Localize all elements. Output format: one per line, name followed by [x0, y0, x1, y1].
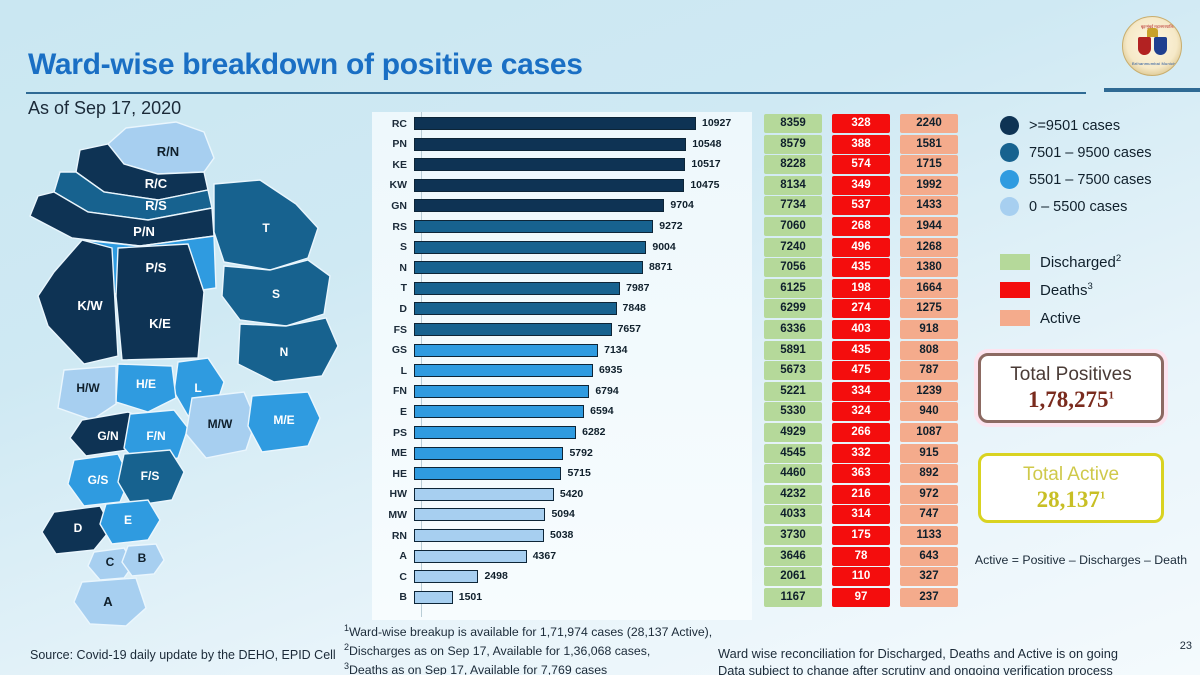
bar-track: 6282 — [414, 425, 752, 440]
cell-deaths: 97 — [832, 588, 890, 607]
bar-value-label: 6794 — [595, 384, 618, 399]
bar-category-label: FN — [372, 385, 414, 397]
footnote-1-text: Ward-wise breakup is available for 1,71,… — [349, 625, 712, 639]
bar-category-label: RC — [372, 118, 414, 130]
ward-map-svg: R/NR/CR/SP/NP/SK/WK/ETSNLH/EH/WG/NF/NM/W… — [8, 120, 358, 630]
bar-value-label: 7657 — [618, 322, 641, 337]
bar-fill[interactable] — [414, 508, 545, 521]
map-ward-mw[interactable] — [186, 392, 256, 458]
cell-deaths: 574 — [832, 155, 890, 174]
cell-discharged: 5330 — [764, 402, 822, 421]
bar-category-label: T — [372, 282, 414, 294]
bar-category-label: GN — [372, 200, 414, 212]
cell-discharged: 1167 — [764, 588, 822, 607]
bar-row: RC10927 — [372, 116, 752, 131]
cell-deaths: 216 — [832, 485, 890, 504]
bar-row: GS7134 — [372, 343, 752, 358]
cell-discharged: 4232 — [764, 485, 822, 504]
legend-status-label: Active — [1040, 310, 1081, 327]
cell-active: 1664 — [900, 279, 958, 298]
cell-active: 1380 — [900, 258, 958, 277]
legend-status-row: Discharged2 — [1000, 248, 1200, 276]
bar-category-label: MW — [372, 509, 414, 521]
bar-category-label: S — [372, 241, 414, 253]
footnote-2-text: Discharges as on Sep 17, Available for 1… — [349, 644, 650, 658]
cell-discharged: 4929 — [764, 423, 822, 442]
bar-row: RS9272 — [372, 219, 752, 234]
cell-discharged: 4545 — [764, 444, 822, 463]
bar-fill[interactable] — [414, 241, 646, 254]
bar-row: KE10517 — [372, 157, 752, 172]
bar-fill[interactable] — [414, 405, 584, 418]
bar-category-label: PS — [372, 427, 414, 439]
total-positives-card: Total Positives 1,78,2751 — [978, 353, 1164, 423]
bar-value-label: 7848 — [623, 301, 646, 316]
bar-category-label: FS — [372, 324, 414, 336]
legend-status-label: Discharged2 — [1040, 253, 1121, 271]
active-formula: Active = Positive – Discharges – Death — [962, 553, 1200, 567]
cell-discharged: 6299 — [764, 299, 822, 318]
total-active-value: 28,1371 — [1037, 487, 1106, 513]
cell-discharged: 3730 — [764, 526, 822, 545]
bar-track: 1501 — [414, 590, 752, 605]
bar-fill[interactable] — [414, 138, 686, 151]
cell-deaths: 110 — [832, 567, 890, 586]
cell-discharged: 7056 — [764, 258, 822, 277]
bar-track: 5038 — [414, 528, 752, 543]
bar-category-label: HE — [372, 468, 414, 480]
cell-active: 918 — [900, 320, 958, 339]
legend-swatch-icon — [1000, 310, 1030, 326]
cell-discharged: 6336 — [764, 320, 822, 339]
bar-fill[interactable] — [414, 199, 664, 212]
legend-case-label: 0 – 5500 cases — [1029, 199, 1127, 215]
bar-track: 5792 — [414, 446, 752, 461]
bar-row: A4367 — [372, 549, 752, 564]
bar-row: E6594 — [372, 404, 752, 419]
bar-row: B1501 — [372, 590, 752, 605]
footnote-3-text: Deaths as on Sep 17, Available for 7,769… — [349, 663, 607, 675]
bar-fill[interactable] — [414, 426, 576, 439]
bar-category-label: ME — [372, 447, 414, 459]
cell-deaths: 363 — [832, 464, 890, 483]
cell-deaths: 349 — [832, 176, 890, 195]
cell-deaths: 332 — [832, 444, 890, 463]
map-ward-t[interactable] — [214, 180, 318, 270]
legend-dot-icon — [1000, 170, 1019, 189]
bar-fill[interactable] — [414, 261, 643, 274]
bar-fill[interactable] — [414, 570, 478, 583]
cell-discharged: 8359 — [764, 114, 822, 133]
bar-value-label: 7134 — [604, 343, 627, 358]
cell-active: 327 — [900, 567, 958, 586]
cell-discharged: 7060 — [764, 217, 822, 236]
bar-track: 9004 — [414, 240, 752, 255]
total-positives-number: 1,78,275 — [1028, 387, 1109, 412]
legend-case-label: 5501 – 7500 cases — [1029, 172, 1152, 188]
cell-active: 892 — [900, 464, 958, 483]
bar-value-label: 2498 — [484, 569, 507, 584]
legend-case-row: 7501 – 9500 cases — [1000, 139, 1200, 166]
logo-shield-left-icon — [1138, 37, 1151, 55]
bar-row: HE5715 — [372, 466, 752, 481]
map-ward-s[interactable] — [222, 260, 330, 326]
cell-discharged: 4033 — [764, 505, 822, 524]
total-active-number: 28,137 — [1037, 487, 1100, 512]
bar-value-label: 9704 — [670, 198, 693, 213]
footnote-2: 2Discharges as on Sep 17, Available for … — [344, 641, 744, 660]
cell-deaths: 266 — [832, 423, 890, 442]
right-note-line1: Ward wise reconciliation for Discharged,… — [718, 645, 1198, 662]
cell-deaths: 435 — [832, 341, 890, 360]
bar-value-label: 5094 — [551, 507, 574, 522]
legend-swatch-icon — [1000, 282, 1030, 298]
bar-value-label: 10475 — [690, 178, 719, 193]
bar-row: KW10475 — [372, 178, 752, 193]
bar-value-label: 10927 — [702, 116, 731, 131]
bar-row: C2498 — [372, 569, 752, 584]
right-notes: Ward wise reconciliation for Discharged,… — [718, 645, 1198, 675]
cell-deaths: 198 — [832, 279, 890, 298]
cell-deaths: 388 — [832, 135, 890, 154]
bar-value-label: 7987 — [626, 281, 649, 296]
total-positives-sup: 1 — [1109, 389, 1115, 401]
bar-value-label: 10517 — [691, 157, 720, 172]
bar-track: 7987 — [414, 281, 752, 296]
bar-category-label: N — [372, 262, 414, 274]
logo-ring: बृहन्मुंबई महानगरपालिका Brihanmumbai Mun… — [1122, 16, 1182, 76]
bar-track: 10927 — [414, 116, 752, 131]
cell-discharged: 6125 — [764, 279, 822, 298]
cell-active: 1133 — [900, 526, 958, 545]
bar-track: 9704 — [414, 198, 752, 213]
map-ward-b[interactable] — [122, 544, 164, 576]
bar-fill[interactable] — [414, 364, 593, 377]
bar-fill[interactable] — [414, 179, 684, 192]
bar-value-label: 9272 — [659, 219, 682, 234]
footnote-3: 3Deaths as on Sep 17, Available for 7,76… — [344, 660, 744, 675]
bar-row: D7848 — [372, 301, 752, 316]
bar-category-label: RN — [372, 530, 414, 542]
legend-swatch-icon — [1000, 254, 1030, 270]
bar-value-label: 4367 — [533, 549, 556, 564]
bar-category-label: L — [372, 365, 414, 377]
municipal-corporation-logo: बृहन्मुंबई महानगरपालिका Brihanmumbai Mun… — [1116, 14, 1188, 82]
bar-fill[interactable] — [414, 529, 544, 542]
page-title: Ward-wise breakdown of positive cases — [28, 48, 583, 82]
cell-deaths: 175 — [832, 526, 890, 545]
cell-active: 237 — [900, 588, 958, 607]
cell-active: 915 — [900, 444, 958, 463]
bar-row: PS6282 — [372, 425, 752, 440]
bar-track: 5420 — [414, 487, 752, 502]
bar-value-label: 10548 — [692, 137, 721, 152]
bar-track: 5094 — [414, 507, 752, 522]
legend-status: Discharged2Deaths3Active — [1000, 248, 1200, 332]
bar-value-label: 6935 — [599, 363, 622, 378]
cell-active: 1581 — [900, 135, 958, 154]
bar-row: MW5094 — [372, 507, 752, 522]
bar-fill[interactable] — [414, 117, 696, 130]
bar-fill[interactable] — [414, 220, 653, 233]
cell-active: 1275 — [900, 299, 958, 318]
bar-track: 10475 — [414, 178, 752, 193]
cell-discharged: 3646 — [764, 547, 822, 566]
bar-category-label: D — [372, 303, 414, 315]
bar-track: 6794 — [414, 384, 752, 399]
cell-active: 972 — [900, 485, 958, 504]
bar-value-label: 6594 — [590, 404, 613, 419]
cell-deaths: 274 — [832, 299, 890, 318]
right-note-line2: Data subject to change after scrutiny an… — [718, 662, 1198, 675]
bar-chart-plot: RC10927PN10548KE10517KW10475GN9704RS9272… — [372, 112, 752, 620]
bar-row: FS7657 — [372, 322, 752, 337]
chart-panel: RC10927PN10548KE10517KW10475GN9704RS9272… — [372, 112, 962, 620]
bar-track: 2498 — [414, 569, 752, 584]
header-accent-bar — [1104, 88, 1200, 92]
bar-fill[interactable] — [414, 467, 561, 480]
bar-track: 10517 — [414, 157, 752, 172]
cell-deaths: 324 — [832, 402, 890, 421]
bar-category-label: KE — [372, 159, 414, 171]
bar-category-label: E — [372, 406, 414, 418]
bar-track: 7848 — [414, 301, 752, 316]
legend-dot-icon — [1000, 197, 1019, 216]
cell-discharged: 7240 — [764, 238, 822, 257]
bar-category-label: C — [372, 571, 414, 583]
legend-case-row: 0 – 5500 cases — [1000, 193, 1200, 220]
bar-track: 9272 — [414, 219, 752, 234]
legend-case-row: 5501 – 7500 cases — [1000, 166, 1200, 193]
source-note: Source: Covid-19 daily update by the DEH… — [30, 648, 336, 662]
bar-value-label: 9004 — [652, 240, 675, 255]
title-divider — [26, 92, 1086, 94]
bar-row: RN5038 — [372, 528, 752, 543]
logo-crest-icon — [1147, 28, 1158, 37]
bar-track: 10548 — [414, 137, 752, 152]
total-active-card: Total Active 28,1371 — [978, 453, 1164, 523]
bar-fill[interactable] — [414, 591, 453, 604]
cell-active: 1944 — [900, 217, 958, 236]
bar-fill[interactable] — [414, 158, 685, 171]
bar-category-label: KW — [372, 179, 414, 191]
total-active-sup: 1 — [1100, 489, 1106, 501]
subtitle-date: As of Sep 17, 2020 — [28, 98, 181, 119]
bar-category-label: HW — [372, 488, 414, 500]
cell-discharged: 8134 — [764, 176, 822, 195]
map-ward-me[interactable] — [248, 392, 320, 452]
bar-value-label: 6282 — [582, 425, 605, 440]
cell-deaths: 403 — [832, 320, 890, 339]
map-ward-e[interactable] — [100, 500, 160, 544]
cell-discharged: 4460 — [764, 464, 822, 483]
logo-shield-right-icon — [1154, 37, 1167, 55]
bar-track: 4367 — [414, 549, 752, 564]
legend-case-label: >=9501 cases — [1029, 118, 1120, 134]
bar-track: 6594 — [414, 404, 752, 419]
map-ward-d[interactable] — [42, 506, 112, 554]
cell-active: 1433 — [900, 196, 958, 215]
cell-active: 747 — [900, 505, 958, 524]
cell-active: 1268 — [900, 238, 958, 257]
legend-dot-icon — [1000, 116, 1019, 135]
legend-cases: >=9501 cases7501 – 9500 cases5501 – 7500… — [1000, 112, 1200, 220]
bar-fill[interactable] — [414, 385, 589, 398]
bar-category-label: RS — [372, 221, 414, 233]
legend-case-label: 7501 – 9500 cases — [1029, 145, 1152, 161]
bar-fill[interactable] — [414, 488, 554, 501]
bar-category-label: A — [372, 550, 414, 562]
bar-value-label: 5792 — [569, 446, 592, 461]
map-ward-he[interactable] — [116, 364, 176, 412]
cell-active: 1087 — [900, 423, 958, 442]
bar-value-label: 1501 — [459, 590, 482, 605]
cell-deaths: 537 — [832, 196, 890, 215]
bar-value-label: 5038 — [550, 528, 573, 543]
cell-deaths: 475 — [832, 361, 890, 380]
bar-track: 7657 — [414, 322, 752, 337]
bar-row: FN6794 — [372, 384, 752, 399]
bar-track: 8871 — [414, 260, 752, 275]
total-positives-label: Total Positives — [1010, 364, 1131, 386]
map-ward-hw[interactable] — [58, 366, 116, 420]
cell-discharged: 5891 — [764, 341, 822, 360]
cell-deaths: 328 — [832, 114, 890, 133]
legend-status-row: Deaths3 — [1000, 276, 1200, 304]
bar-row: N8871 — [372, 260, 752, 275]
cell-deaths: 268 — [832, 217, 890, 236]
ward-map[interactable]: R/NR/CR/SP/NP/SK/WK/ETSNLH/EH/WG/NF/NM/W… — [8, 120, 358, 630]
cell-discharged: 5221 — [764, 382, 822, 401]
cell-active: 808 — [900, 341, 958, 360]
map-ward-n[interactable] — [238, 318, 338, 382]
bar-row: T7987 — [372, 281, 752, 296]
bar-category-label: B — [372, 591, 414, 603]
cell-active: 643 — [900, 547, 958, 566]
bar-fill[interactable] — [414, 323, 612, 336]
cell-active: 1239 — [900, 382, 958, 401]
bar-row: ME5792 — [372, 446, 752, 461]
map-ward-kw[interactable] — [38, 240, 118, 364]
bar-value-label: 5715 — [567, 466, 590, 481]
footnotes: 1Ward-wise breakup is available for 1,71… — [344, 622, 744, 675]
bar-row: HW5420 — [372, 487, 752, 502]
cell-deaths: 496 — [832, 238, 890, 257]
bar-track: 5715 — [414, 466, 752, 481]
bar-fill[interactable] — [414, 447, 563, 460]
bar-row: PN10548 — [372, 137, 752, 152]
map-ward-ke[interactable] — [116, 244, 204, 360]
legend-case-row: >=9501 cases — [1000, 112, 1200, 139]
cell-active: 2240 — [900, 114, 958, 133]
bar-fill[interactable] — [414, 550, 527, 563]
cell-deaths: 314 — [832, 505, 890, 524]
bar-value-label: 8871 — [649, 260, 672, 275]
bar-fill[interactable] — [414, 282, 620, 295]
bar-category-label: PN — [372, 138, 414, 150]
cell-deaths: 435 — [832, 258, 890, 277]
bar-track: 7134 — [414, 343, 752, 358]
bar-value-label: 5420 — [560, 487, 583, 502]
logo-text-bottom: Brihanmumbai Municipal Corporation — [1132, 57, 1182, 71]
legend-status-label: Deaths3 — [1040, 281, 1093, 299]
cell-discharged: 2061 — [764, 567, 822, 586]
cell-active: 1715 — [900, 155, 958, 174]
bar-fill[interactable] — [414, 344, 598, 357]
cell-deaths: 334 — [832, 382, 890, 401]
legend-status-row: Active — [1000, 304, 1200, 332]
cell-discharged: 7734 — [764, 196, 822, 215]
cell-discharged: 8228 — [764, 155, 822, 174]
total-positives-value: 1,78,2751 — [1028, 387, 1114, 413]
map-ward-a[interactable] — [74, 578, 146, 626]
bar-fill[interactable] — [414, 302, 617, 315]
bar-row: S9004 — [372, 240, 752, 255]
cell-discharged: 5673 — [764, 361, 822, 380]
slide-number: 23 — [1180, 640, 1192, 652]
total-active-label: Total Active — [1023, 464, 1119, 486]
bar-row: L6935 — [372, 363, 752, 378]
bar-category-label: GS — [372, 344, 414, 356]
map-ward-fs[interactable] — [118, 450, 184, 506]
cell-active: 787 — [900, 361, 958, 380]
cell-active: 1992 — [900, 176, 958, 195]
legend-dot-icon — [1000, 143, 1019, 162]
cell-deaths: 78 — [832, 547, 890, 566]
bar-track: 6935 — [414, 363, 752, 378]
footnote-1: 1Ward-wise breakup is available for 1,71… — [344, 622, 744, 641]
bar-row: GN9704 — [372, 198, 752, 213]
cell-discharged: 8579 — [764, 135, 822, 154]
cell-active: 940 — [900, 402, 958, 421]
